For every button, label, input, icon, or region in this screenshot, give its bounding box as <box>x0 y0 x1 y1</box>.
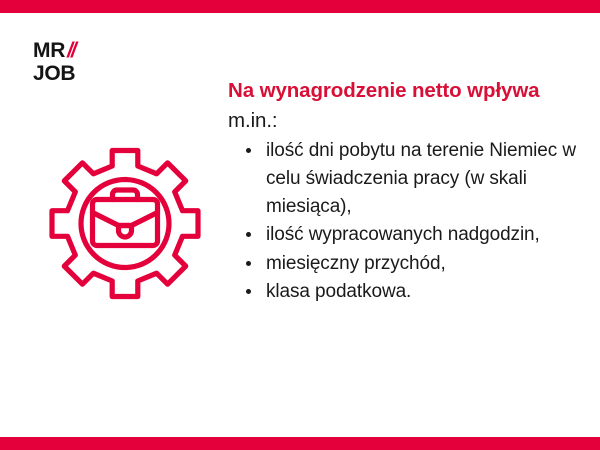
logo-line-mr: MR// <box>33 40 75 61</box>
bottom-accent-bar <box>0 437 600 450</box>
factors-list: ilość dni pobytu na terenie Niemiec w ce… <box>228 137 580 305</box>
bullet-dot-icon <box>246 261 251 266</box>
list-item-label: miesięczny przychód, <box>266 253 446 274</box>
top-accent-bar <box>0 0 600 13</box>
slide-canvas: MR// JOB Na wynagrodzenie netto wpływa m… <box>0 0 600 450</box>
gear-with-briefcase-icon <box>44 146 206 308</box>
headline-tail: m.in.: <box>228 109 278 132</box>
list-item: miesięczny przychód, <box>246 250 580 278</box>
brand-logo: MR// JOB <box>33 40 75 84</box>
bullet-dot-icon <box>246 232 251 237</box>
headline-emphasis: Na wynagrodzenie netto wpływa <box>228 79 540 102</box>
list-item: ilość dni pobytu na terenie Niemiec w ce… <box>246 137 580 220</box>
bullet-dot-icon <box>246 148 251 153</box>
list-item: ilość wypracowanych nadgodzin, <box>246 221 580 249</box>
bullet-dot-icon <box>246 289 251 294</box>
logo-text-mr: MR <box>33 39 65 62</box>
list-item-label: klasa podatkowa. <box>266 281 411 302</box>
text-content-block: Na wynagrodzenie netto wpływa m.in.: ilo… <box>228 76 580 307</box>
logo-slashes-icon: // <box>67 39 75 62</box>
list-item-label: ilość dni pobytu na terenie Niemiec w ce… <box>266 140 576 216</box>
logo-text-job: JOB <box>33 63 75 84</box>
page-title: Na wynagrodzenie netto wpływa m.in.: <box>228 76 580 135</box>
list-item-label: ilość wypracowanych nadgodzin, <box>266 224 540 245</box>
list-item: klasa podatkowa. <box>246 278 580 306</box>
